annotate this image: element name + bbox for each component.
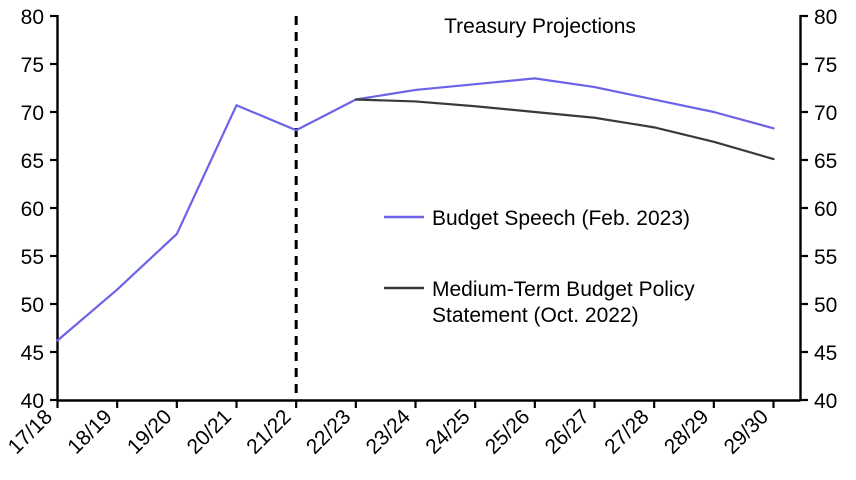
left-ytick-label-55: 55	[21, 246, 44, 269]
right-ytick-label-40: 40	[814, 390, 837, 413]
x-tick-label-19-20: 19/20	[123, 405, 176, 458]
x-tick-label-26-27: 26/27	[541, 405, 594, 458]
x-tick-label-29-30: 29/30	[720, 405, 773, 458]
right-y-tick-labels: 80 75 70 65 60 55 50 45 40	[814, 6, 837, 413]
x-tick-label-21-22: 21/22	[242, 405, 295, 458]
legend: Budget Speech (Feb. 2023) Medium-Term Bu…	[384, 207, 695, 327]
left-ytick-label-50: 50	[21, 294, 44, 317]
left-ytick-label-45: 45	[21, 342, 44, 365]
x-tick-label-18-19: 18/19	[63, 405, 116, 458]
x-tick-label-27-28: 27/28	[600, 405, 653, 458]
left-y-tick-labels: 80 75 70 65 60 55 50 45 40	[21, 6, 44, 413]
legend-entry-budget-speech[interactable]: Budget Speech (Feb. 2023)	[384, 207, 690, 230]
x-tick-label-28-29: 28/29	[660, 405, 713, 458]
right-ytick-label-45: 45	[814, 342, 837, 365]
series-line-mtbps	[356, 100, 774, 160]
legend-label-budget-speech: Budget Speech (Feb. 2023)	[432, 207, 690, 230]
left-ytick-label-80: 80	[21, 6, 44, 29]
right-ytick-label-80: 80	[814, 6, 837, 29]
left-ytick-label-75: 75	[21, 54, 44, 77]
legend-entry-mtbps[interactable]: Medium-Term Budget Policy Statement (Oct…	[384, 278, 695, 327]
right-ytick-label-60: 60	[814, 198, 837, 221]
legend-label-mtbps-line1: Medium-Term Budget Policy	[432, 278, 695, 301]
x-tick-label-24-25: 24/25	[421, 405, 474, 458]
x-tick-label-25-26: 25/26	[481, 405, 534, 458]
right-ytick-label-70: 70	[814, 102, 837, 125]
x-tick-label-23-24: 23/24	[362, 405, 416, 459]
left-ytick-label-70: 70	[21, 102, 44, 125]
right-ytick-label-65: 65	[814, 150, 837, 173]
right-ytick-label-75: 75	[814, 54, 837, 77]
left-ytick-label-65: 65	[21, 150, 44, 173]
left-ytick-label-60: 60	[21, 198, 44, 221]
right-ytick-label-55: 55	[814, 246, 837, 269]
x-tick-label-20-21: 20/21	[183, 405, 236, 458]
x-tick-label-22-23: 22/23	[302, 405, 355, 458]
treasury-projections-line-chart: 80 75 70 65 60 55 50 45 40 80 75 70 65 6…	[0, 0, 856, 480]
right-ytick-label-50: 50	[814, 294, 837, 317]
x-tick-labels: 17/1818/1919/2020/2121/2222/2323/2424/25…	[4, 405, 773, 459]
chart-title: Treasury Projections	[444, 15, 636, 38]
x-tick-label-17-18: 17/18	[4, 405, 57, 458]
legend-label-mtbps-line2: Statement (Oct. 2022)	[432, 304, 639, 327]
chart-container: 80 75 70 65 60 55 50 45 40 80 75 70 65 6…	[0, 0, 856, 480]
